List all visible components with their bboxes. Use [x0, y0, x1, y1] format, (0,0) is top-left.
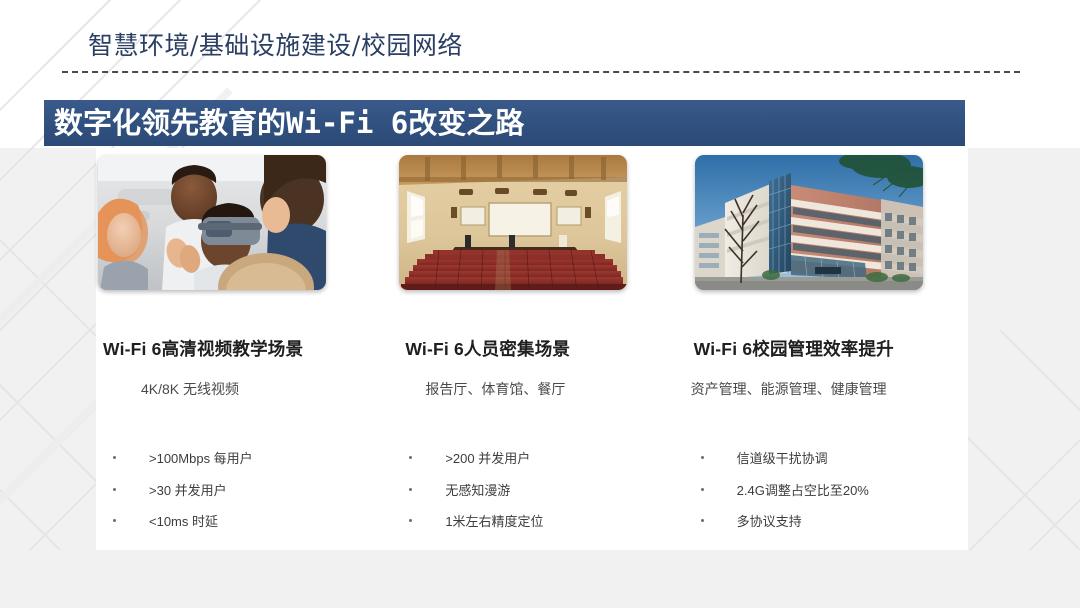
bullet-dot-icon — [113, 456, 116, 459]
scenario-column-video-teaching: Wi-Fi 6高清视频教学场景 4K/8K 无线视频 >100Mbps 每用户 … — [96, 155, 389, 550]
bullet-text: 信道级干扰协调 — [737, 451, 828, 466]
campus-building-exterior-photo — [695, 155, 923, 290]
presentation-slide: 智慧环境/基础设施建设/校园网络 数字化领先教育的Wi-Fi 6改变之路 — [0, 0, 1080, 608]
bullet-text: <10ms 时延 — [149, 514, 218, 529]
bullet-text: >30 并发用户 — [149, 483, 227, 498]
list-item: 无感知漫游 — [409, 483, 682, 499]
bullet-text: 多协议支持 — [737, 514, 802, 529]
bullet-dot-icon — [701, 488, 704, 491]
column-bullet-list: >100Mbps 每用户 >30 并发用户 <10ms 时延 — [113, 451, 389, 530]
list-item: 信道级干扰协调 — [701, 451, 976, 467]
bullet-text: 1米左右精度定位 — [445, 514, 543, 529]
scenario-column-dense-crowd: Wi-Fi 6人员密集场景 报告厅、体育馆、餐厅 >200 并发用户 无感知漫游… — [389, 155, 682, 550]
list-item: 多协议支持 — [701, 514, 976, 530]
breadcrumb: 智慧环境/基础设施建设/校园网络 — [88, 26, 463, 62]
list-item: 2.4G调整占空比至20% — [701, 483, 976, 499]
column-subtitle: 报告厅、体育馆、餐厅 — [425, 379, 682, 399]
column-bullet-list: 信道级干扰协调 2.4G调整占空比至20% 多协议支持 — [701, 451, 976, 530]
column-subtitle: 资产管理、能源管理、健康管理 — [691, 379, 976, 399]
list-item: <10ms 时延 — [113, 514, 389, 530]
bullet-text: >100Mbps 每用户 — [149, 451, 253, 466]
background-bottom-strip — [0, 550, 1080, 608]
auditorium-lecture-hall-photo — [399, 155, 627, 290]
list-item: 1米左右精度定位 — [409, 514, 682, 530]
page-title: 数字化领先教育的Wi-Fi 6改变之路 — [44, 109, 524, 138]
header-divider — [62, 71, 1020, 73]
bullet-dot-icon — [701, 519, 704, 522]
column-heading: Wi-Fi 6校园管理效率提升 — [694, 336, 976, 361]
list-item: >100Mbps 每用户 — [113, 451, 389, 467]
bullet-text: 2.4G调整占空比至20% — [737, 483, 869, 498]
column-heading: Wi-Fi 6高清视频教学场景 — [103, 336, 389, 361]
slide-title-bar: 数字化领先教育的Wi-Fi 6改变之路 — [44, 100, 965, 146]
students-vr-classroom-photo — [98, 155, 326, 290]
bullet-dot-icon — [113, 519, 116, 522]
bullet-text: 无感知漫游 — [445, 483, 510, 498]
column-bullet-list: >200 并发用户 无感知漫游 1米左右精度定位 — [409, 451, 682, 530]
bullet-text: >200 并发用户 — [445, 451, 530, 466]
list-item: >30 并发用户 — [113, 483, 389, 499]
scenario-column-campus-management: Wi-Fi 6校园管理效率提升 资产管理、能源管理、健康管理 信道级干扰协调 2… — [683, 155, 976, 550]
bullet-dot-icon — [409, 488, 412, 491]
bullet-dot-icon — [701, 456, 704, 459]
scenario-columns: Wi-Fi 6高清视频教学场景 4K/8K 无线视频 >100Mbps 每用户 … — [96, 155, 976, 550]
bullet-dot-icon — [113, 488, 116, 491]
column-subtitle: 4K/8K 无线视频 — [141, 379, 389, 399]
column-heading: Wi-Fi 6人员密集场景 — [405, 336, 682, 361]
bullet-dot-icon — [409, 456, 412, 459]
list-item: >200 并发用户 — [409, 451, 682, 467]
bullet-dot-icon — [409, 519, 412, 522]
